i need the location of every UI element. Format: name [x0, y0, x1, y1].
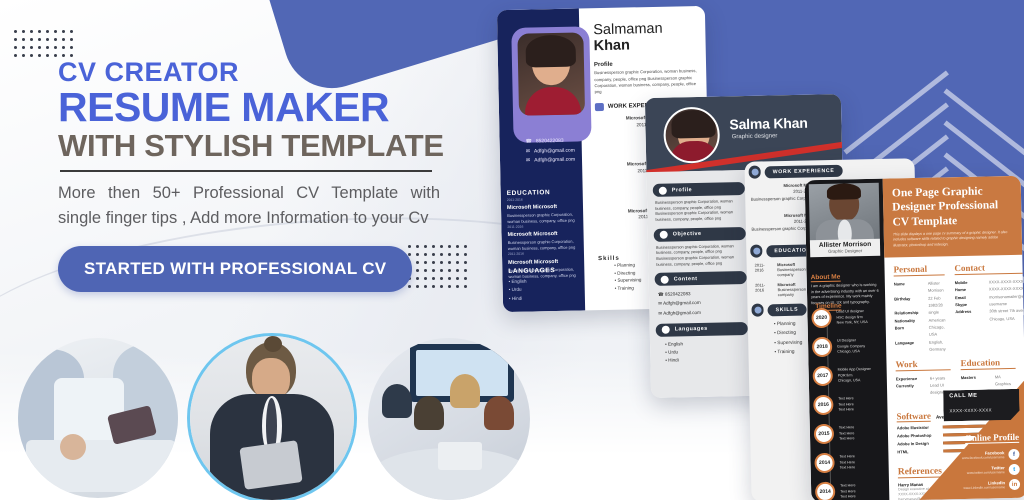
- card1-photo-frame: ☎8520422083✉Adfgh@gmail.com✉Adfgh@gmail.…: [511, 26, 591, 143]
- get-started-button[interactable]: STARTED WITH PROFESSIONAL CV: [58, 246, 412, 292]
- card1-education-item: 2011-2016Microsoft MicrosoftBusinesspers…: [508, 251, 583, 280]
- briefcase-icon: [595, 103, 604, 111]
- promo-subhead: WITH STYLISH TEMPLATE: [58, 130, 488, 163]
- social-links: Facebookwww.facebook.com/usernamefTwitte…: [927, 449, 1020, 492]
- call-me-number: XXXX-XXXX-XXXX: [949, 407, 991, 413]
- card4-sidebar: Allister Morrison Graphic Designer About…: [805, 179, 890, 500]
- twitter-icon[interactable]: t: [1009, 464, 1020, 475]
- promo-copy: CV CREATOR RESUME MAKER WITH STYLISH TEM…: [58, 58, 488, 292]
- contact-icon: [661, 275, 669, 283]
- call-me-label: CALL ME: [949, 392, 1013, 399]
- card2-section-text: Businessperson graphic Corporation, woma…: [653, 198, 745, 223]
- card3-work-heading: WORK EXPERIENCE: [773, 167, 835, 174]
- card4-timeline-item: 2014Text HereText HereText Here: [815, 481, 887, 500]
- office-desk-photo: [18, 338, 178, 498]
- mail-icon: ✉: [526, 157, 530, 167]
- card2-languages-list: • English• Urdu• Hindi: [656, 339, 748, 366]
- target-icon: [660, 231, 668, 239]
- facebook-icon[interactable]: f: [1008, 449, 1019, 460]
- card4-main: One Page Graphic Designer Professional C…: [883, 176, 1024, 500]
- card4-timeline-item: 2016Text HereText HereText Here: [813, 394, 885, 416]
- promo-headline: RESUME MAKER: [58, 87, 488, 128]
- card1-education-heading: EDUCATION: [507, 189, 551, 197]
- card4-contact-heading: Contact: [954, 261, 1024, 275]
- card1-name: Salmaman Khan: [593, 20, 698, 55]
- card4-personal-row: LanguageEnglish, Germany: [895, 338, 946, 354]
- card1-profile-heading: Profile: [594, 60, 698, 68]
- card2-section-pill[interactable]: Content: [655, 271, 747, 286]
- divider-rule: [60, 170, 432, 172]
- card4-timeline: 2020Lead UI designerHSC design firmNew Y…: [811, 307, 887, 500]
- promo-eyebrow: CV CREATOR: [58, 58, 488, 86]
- globe-icon: [662, 326, 670, 334]
- card2-name: Salma Khan: [729, 115, 807, 133]
- card2-section-text: Businessperson graphic Corporation, woma…: [654, 243, 746, 268]
- card2-section-pill[interactable]: Profile: [653, 182, 745, 197]
- social-row[interactable]: LinkedInwww.LinkedIn.com/usernamein: [928, 479, 1020, 492]
- card4-work-heading: Work: [895, 358, 950, 371]
- card4-subtitle: This slide displays a one page cv summar…: [893, 230, 1013, 248]
- mail-icon: ✉: [658, 310, 662, 315]
- card3-skills-heading: SKILLS: [776, 307, 799, 313]
- card4-online-profile: Online Profile Facebookwww.facebook.com/…: [927, 427, 1020, 492]
- card4-timeline-item: 2014Text HereText HereText Here: [814, 452, 886, 474]
- linkedin-icon[interactable]: in: [1009, 479, 1020, 490]
- card4-about-heading: About Me: [811, 274, 841, 283]
- card1-education-item: 2011-2016Microsoft MicrosoftBusinesspers…: [507, 224, 582, 253]
- card1-education-item: 2011-2016Microsoft MicrosoftBusinesspers…: [507, 196, 582, 225]
- team-meeting-photo: [368, 338, 530, 500]
- card1-language-item: • Hindi: [509, 293, 583, 303]
- social-row[interactable]: Twitterwww.twitter.com/usernamet: [928, 464, 1020, 477]
- card3-work-heading-row: WORK EXPERIENCE: [749, 163, 857, 178]
- card2-contact-row: ✉ Adfgh@gmail.com: [658, 307, 747, 318]
- cap-icon: [750, 245, 762, 258]
- card2-contact-list: ☎ 8520422083✉ Adfgh@gmail.com✉ Adfgh@gma…: [655, 288, 748, 317]
- card4-timeline-item: 2015Text HereText HereText Here: [814, 423, 886, 445]
- star-icon: [751, 304, 763, 317]
- businessman-tablet-photo: [190, 336, 354, 500]
- card1-languages-list: • English• Urdu• Hindi: [508, 276, 583, 302]
- card4-personal-row: BornChicago, USA: [895, 323, 946, 339]
- online-profile-heading: Online Profile: [965, 432, 1019, 444]
- card2-role: Graphic designer: [732, 133, 778, 140]
- card1-last-name: Khan: [593, 36, 697, 54]
- card1-portrait: [517, 32, 585, 115]
- promo-banner: CV CREATOR RESUME MAKER WITH STYLISH TEM…: [0, 0, 1024, 500]
- card4-info-grid-1: Personal NameAllister MorrisonBirthday22…: [884, 254, 1024, 354]
- card4-personal-list: NameAllister MorrisonBirthday22 Feb 1982…: [894, 279, 946, 354]
- card4-personal-row: Birthday22 Feb 1982/28: [894, 294, 945, 310]
- call-me-badge: CALL ME XXXX-XXXX-XXXX: [943, 389, 1020, 422]
- social-row[interactable]: Facebookwww.facebook.com/usernamef: [927, 449, 1019, 462]
- card4-timeline-item: 2018UI DesignerGoogle CompanyChicago, US…: [812, 336, 884, 358]
- card4-banner: One Page Graphic Designer Professional C…: [883, 176, 1023, 258]
- user-icon: [659, 186, 667, 194]
- phone-icon: ☎: [658, 292, 664, 297]
- card4-contact-list: MobileXXXX-XXXX-XXXXHomeXXXX-XXXX-XXXXEm…: [955, 277, 1024, 323]
- resume-card-allister[interactable]: Allister Morrison Graphic Designer About…: [805, 176, 1024, 500]
- card4-education-heading: Education: [960, 357, 1015, 370]
- card4-timeline-item: 2017Mobile App DesignerPQR firmChicago, …: [813, 365, 885, 387]
- card2-section-pill[interactable]: Languages: [656, 322, 748, 337]
- card1-profile-text: Businessperson graphic Corporation, woma…: [594, 68, 698, 95]
- phone-icon: ☎: [526, 138, 532, 148]
- card2-left-column: ProfileBusinessperson graphic Corporatio…: [653, 176, 749, 365]
- card4-timeline-item: 2020Lead UI designerHSC design firmNew Y…: [811, 307, 883, 329]
- card4-contact-row: Address30th street 7th avenue, west Chic…: [955, 307, 1024, 324]
- card2-section-pill[interactable]: Objective: [654, 227, 746, 242]
- card4-personal-row: NameAllister Morrison: [894, 279, 945, 295]
- card1-languages-heading: LANGUAGES: [508, 267, 555, 275]
- card2-avatar: [663, 107, 720, 164]
- card4-title: One Page Graphic Designer Professional C…: [892, 184, 1013, 230]
- promo-body: More then 50+ Professional CV Template w…: [58, 181, 440, 232]
- card1-first-name: Salmaman: [593, 21, 663, 38]
- mail-icon: ✉: [658, 301, 662, 306]
- dot-pattern-top-left: [14, 30, 73, 57]
- card2-language-item: • Hindi: [665, 355, 748, 365]
- briefcase-icon: [749, 165, 761, 178]
- card4-name-plate: Allister Morrison Graphic Designer: [810, 239, 880, 257]
- card4-personal-heading: Personal: [893, 263, 944, 276]
- mail-icon: ✉: [526, 147, 530, 157]
